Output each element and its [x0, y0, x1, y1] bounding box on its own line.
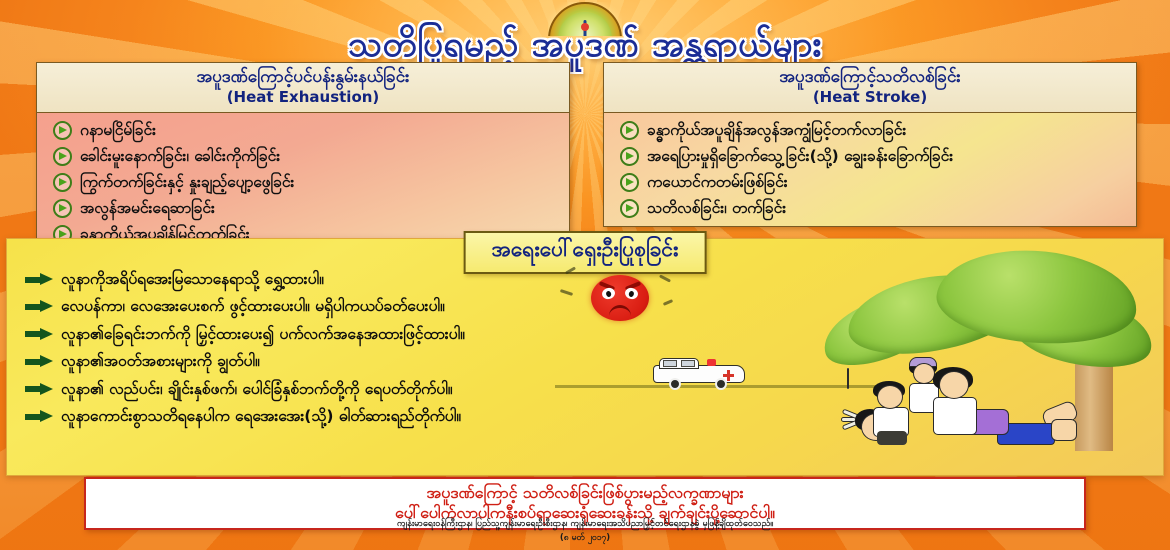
symptom-panels: အပူဒဏ်ကြောင့်ပင်ပန်းနွမ်းနယ်ခြင်း (Heat … [0, 62, 1170, 226]
arrow-circle-icon [53, 173, 72, 192]
publisher-credit: ကျန်းမာရေးဝန်ကြီးဌာန၊ ပြည်သူ့ကျန်းမာရေးဦ… [0, 518, 1170, 531]
list-item: လူနာ၏ လည်ပင်း၊ ချိုင်းနှစ်ဖက်၊ ပေါင်ခြံန… [21, 379, 561, 399]
symptom-text: ကြွက်တက်ခြင်းနှင့် နှုးချည့်ပျော့ဖွေခြင်… [80, 172, 294, 192]
arrow-circle-icon [620, 121, 639, 140]
arrow-right-icon [25, 273, 53, 286]
heat-wave-mark [663, 299, 673, 306]
panel-heat-stroke-header: အပူဒဏ်ကြောင့်သတိလစ်ခြင်း (Heat Stroke) [604, 63, 1136, 113]
panel-heat-exhaustion: အပူဒဏ်ကြောင့်ပင်ပန်းနွမ်းနယ်ခြင်း (Heat … [36, 62, 570, 253]
symptom-text: ကယောင်ကတမ်းဖြစ်ခြင်း [647, 172, 788, 192]
arrow-right-icon [25, 383, 53, 396]
step-text: လူနာကိုအရိပ်ရအေးမြသောနေရာသို့ ရွှေ့ထားပါ… [61, 269, 324, 289]
angry-sun-icon [591, 275, 649, 321]
list-item: လေပန်ကာ၊ လေအေးပေးစက် ဖွင့်ထားပေးပါ။ မရှိ… [21, 296, 561, 316]
list-item: ဂနာမငြိမ်ခြင်း [49, 120, 559, 140]
arrow-circle-icon [53, 199, 72, 218]
list-item: လူနာ၏အဝတ်အစားများကို ချွတ်ပါ။ [21, 351, 561, 371]
symptom-text: ခန္ဓာကိုယ်အပူချိန်အလွန်အကျွံမြင့်တက်လာခြ… [647, 120, 906, 140]
list-item: ကယောင်ကတမ်းဖြစ်ခြင်း [616, 172, 1126, 192]
step-text: လူနာ၏အဝတ်အစားများကို ချွတ်ပါ။ [61, 351, 260, 371]
list-item: ခေါင်းမူးနောက်ခြင်း၊ ခေါင်းကိုက်ခြင်း [49, 146, 559, 166]
arrow-circle-icon [620, 147, 639, 166]
ambulance-icon [653, 357, 751, 387]
heat-wave-mark [659, 274, 671, 282]
arrow-circle-icon [620, 173, 639, 192]
arrow-right-icon [25, 300, 53, 313]
notice-line-1: အပူဒဏ်ကြောင့် သတိလစ်ခြင်းဖြစ်ပွားမည့်လက္… [94, 483, 1076, 503]
panel-heat-stroke-title-en: (Heat Stroke) [608, 88, 1132, 106]
list-item: အလွန်အမင်းရေဆာခြင်း [49, 198, 559, 218]
arrow-circle-icon [53, 147, 72, 166]
panel-heat-stroke-body: ခန္ဓာကိုယ်အပူချိန်အလွန်အကျွံမြင့်တက်လာခြ… [604, 113, 1136, 227]
emergency-first-aid-section: အရေးပေါ်ရှေးဦးပြုစုခြင်း လူနာကိုအရိပ်ရအေ… [6, 238, 1164, 476]
heat-wave-mark [565, 266, 576, 274]
first-aid-step-list: လူနာကိုအရိပ်ရအေးမြသောနေရာသို့ ရွှေ့ထားပါ… [21, 269, 561, 434]
arrow-circle-icon [620, 199, 639, 218]
symptom-text: အလွန်အမင်းရေဆာခြင်း [80, 198, 215, 218]
list-item: အရေပြားမှုရှိခြောက်သွေ့ခြင်း(သို့) ချွေး… [616, 146, 1126, 166]
arrow-right-icon [25, 355, 53, 368]
list-item: လူနာ၏ခြေရင်းဘက်ကို မြှင့်ထားပေး၍ ပက်လက်အ… [21, 324, 561, 344]
list-item: ခန္ဓာကိုယ်အပူချိန်အလွန်အကျွံမြင့်တက်လာခြ… [616, 120, 1126, 140]
symptom-text: အရေပြားမှုရှိခြောက်သွေ့ခြင်း(သို့) ချွေး… [647, 146, 953, 166]
step-text: လူနာကောင်းစွာသတိရနေပါက ရေအေးအေး(သို့) ဓါ… [61, 406, 461, 426]
panel-heat-stroke: အပူဒဏ်ကြောင့်သတိလစ်ခြင်း (Heat Stroke) ခ… [603, 62, 1137, 227]
poster-root: သတိပြုရမည့် အပူဒဏ် အန္တရာယ်များ အပူဒဏ်ကြ… [0, 0, 1170, 550]
step-text: လူနာ၏ခြေရင်းဘက်ကို မြှင့်ထားပေး၍ ပက်လက်အ… [61, 324, 465, 344]
arrow-right-icon [25, 328, 53, 341]
panel-heat-exhaustion-title-my: အပူဒဏ်ကြောင့်ပင်ပန်းနွမ်းနယ်ခြင်း [41, 68, 565, 88]
publication-date: (၈ မတ် ၂၀၁၇) [0, 533, 1170, 545]
first-aid-group-illustration [847, 369, 1147, 467]
list-item: လူနာကောင်းစွာသတိရနေပါက ရေအေးအေး(သို့) ဓါ… [21, 406, 561, 426]
list-item: သတိလစ်ခြင်း၊ တက်ခြင်း [616, 198, 1126, 218]
step-text: လူနာ၏ လည်ပင်း၊ ချိုင်းနှစ်ဖက်၊ ပေါင်ခြံန… [61, 379, 452, 399]
arrow-right-icon [25, 410, 53, 423]
symptom-text: သတိလစ်ခြင်း၊ တက်ခြင်း [647, 198, 786, 218]
symptom-text: ခေါင်းမူးနောက်ခြင်း၊ ခေါင်းကိုက်ခြင်း [80, 146, 280, 166]
arrow-circle-icon [53, 121, 72, 140]
first-aid-illustration [555, 257, 1155, 471]
patient-figure [847, 369, 849, 388]
panel-heat-exhaustion-header: အပူဒဏ်ကြောင့်ပင်ပန်းနွမ်းနယ်ခြင်း (Heat … [37, 63, 569, 113]
symptom-text: ဂနာမငြိမ်ခြင်း [80, 120, 156, 140]
panel-heat-exhaustion-title-en: (Heat Exhaustion) [41, 88, 565, 106]
heat-wave-mark [560, 289, 573, 296]
step-text: လေပန်ကာ၊ လေအေးပေးစက် ဖွင့်ထားပေးပါ။ မရှိ… [61, 296, 445, 316]
list-item: ကြွက်တက်ခြင်းနှင့် နှုးချည့်ပျော့ဖွေခြင်… [49, 172, 559, 192]
list-item: လူနာကိုအရိပ်ရအေးမြသောနေရာသို့ ရွှေ့ထားပါ… [21, 269, 561, 289]
panel-heat-stroke-title-my: အပူဒဏ်ကြောင့်သတိလစ်ခြင်း [608, 68, 1132, 88]
